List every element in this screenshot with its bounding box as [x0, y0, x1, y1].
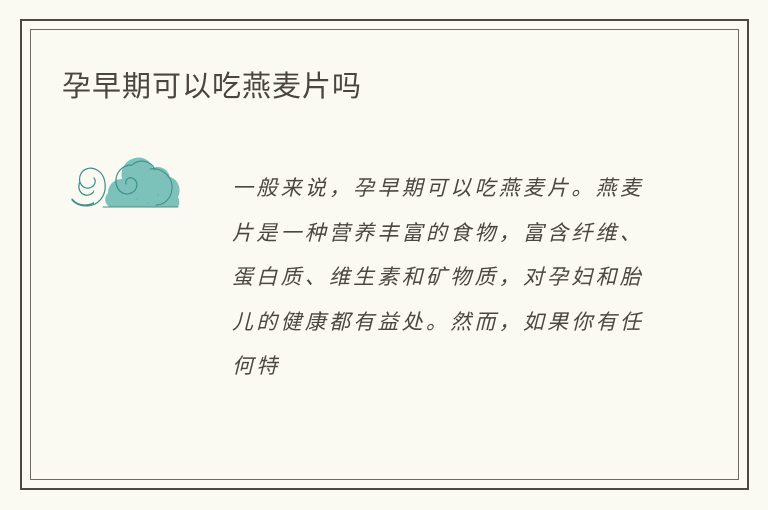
page-title: 孕早期可以吃燕麦片吗 [62, 68, 362, 106]
document-page: 孕早期可以吃燕麦片吗 [0, 0, 768, 510]
document-content: 孕早期可以吃燕麦片吗 [0, 0, 768, 510]
article-body-text: 一般来说，孕早期可以吃燕麦片。燕麦片是一种营养丰富的食物，富含纤维、蛋白质、维生… [232, 166, 644, 389]
cloud-swirl-ornament-icon [70, 155, 182, 211]
